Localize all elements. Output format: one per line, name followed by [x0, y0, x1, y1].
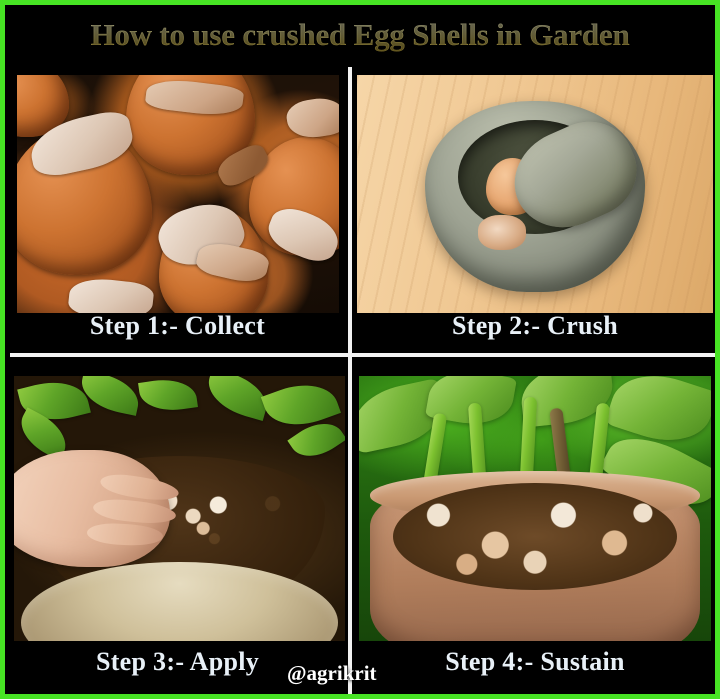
- mortar-bowl: [425, 101, 646, 291]
- caption-step-1: Step 1:- Collect: [10, 311, 345, 341]
- panel-step-1: Step 1:- Collect: [10, 67, 345, 353]
- panel-step-3: agrikrit Step 3:- Apply: [10, 360, 345, 699]
- horizontal-divider: [10, 353, 715, 357]
- scene-hand-applying-shells: [14, 376, 345, 641]
- scene-mortar-and-pestle: [357, 75, 713, 313]
- crushed-shell-crumbs: [478, 215, 527, 249]
- shell-shard: [285, 94, 339, 141]
- caption-step-2: Step 2:- Crush: [355, 311, 715, 341]
- caption-step-4: Step 4:- Sustain: [355, 647, 715, 677]
- scene-pot-with-mulch: [359, 376, 711, 641]
- panel-step-2: Step 2:- Crush: [355, 67, 715, 353]
- photo-collect-eggshells: [17, 75, 339, 313]
- shell-shard: [67, 275, 154, 313]
- vertical-divider: [348, 67, 352, 699]
- photo-mortar-pestle: [357, 75, 713, 313]
- photo-eggshell-mulch: [359, 376, 711, 641]
- title-bar: How to use crushed Egg Shells in Garden: [5, 5, 715, 65]
- terracotta-pot: [370, 471, 701, 641]
- eggshell-garden-infographic: How to use crushed Egg Shells in Garden …: [0, 0, 720, 699]
- panel-step-4: Step 4:- Sustain: [355, 360, 715, 699]
- scene-eggshell-pile: [17, 75, 339, 313]
- eggshell-mulch-layer: [393, 483, 678, 591]
- page-title: How to use crushed Egg Shells in Garden: [90, 18, 629, 52]
- plant-leaf: [138, 376, 198, 414]
- photo-apply-to-soil: agrikrit: [14, 376, 345, 641]
- handle-watermark: @agrikrit: [287, 661, 377, 686]
